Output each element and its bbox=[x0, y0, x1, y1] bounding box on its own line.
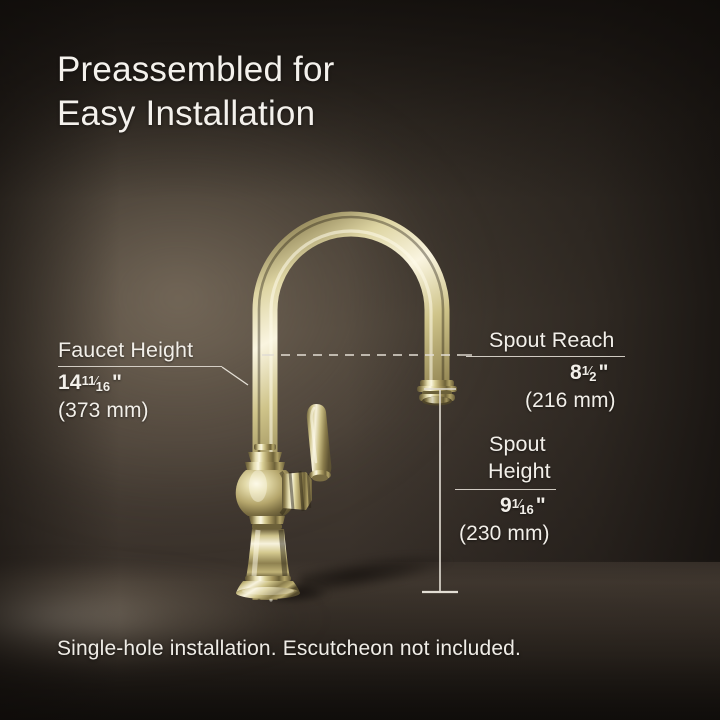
spout-height-metric: (230 mm) bbox=[459, 522, 550, 546]
spout-height-value: 91⁄16" bbox=[500, 494, 546, 518]
spout-reach-value: 81⁄2" bbox=[570, 361, 609, 385]
faucet-height-numerator: 11 bbox=[82, 373, 96, 388]
faucet-height-whole: 14 bbox=[58, 371, 82, 394]
faucet-height-metric: (373 mm) bbox=[58, 399, 149, 423]
spout-reach-unit: " bbox=[598, 361, 608, 384]
spout-height-rule bbox=[455, 489, 556, 490]
faucet-height-rule bbox=[58, 366, 222, 367]
faucet-height-value: 1411⁄16" bbox=[58, 371, 122, 395]
faucet-body bbox=[236, 444, 312, 599]
faucet-gooseneck bbox=[259, 217, 443, 600]
faucet-height-leader-line bbox=[222, 367, 248, 385]
spout-height-denominator: 16 bbox=[519, 502, 533, 517]
spout-reach-denominator: 2 bbox=[589, 369, 596, 384]
spout-height-title-line-1: Spout bbox=[489, 432, 546, 457]
faucet-height-unit: " bbox=[112, 371, 122, 394]
faucet-lever-handle bbox=[307, 404, 332, 482]
product-dimension-graphic: Preassembled for Easy Installation Fauce… bbox=[0, 0, 720, 720]
spout-reach-title: Spout Reach bbox=[489, 328, 614, 353]
spout-height-unit: " bbox=[536, 494, 546, 517]
footer-note: Single-hole installation. Escutcheon not… bbox=[57, 637, 521, 661]
headline-line-2: Easy Installation bbox=[57, 92, 335, 136]
headline: Preassembled for Easy Installation bbox=[57, 48, 335, 136]
spout-height-title-line-2: Height bbox=[488, 459, 551, 484]
faucet-valve-barrel bbox=[282, 471, 312, 511]
faucet-spout-tip bbox=[417, 380, 457, 406]
faucet-height-denominator: 16 bbox=[96, 379, 110, 394]
spout-reach-whole: 8 bbox=[570, 361, 582, 384]
spout-reach-metric: (216 mm) bbox=[525, 389, 616, 413]
headline-line-1: Preassembled for bbox=[57, 48, 335, 92]
spout-height-whole: 9 bbox=[500, 494, 512, 517]
spout-reach-numerator: 1 bbox=[582, 363, 589, 378]
faucet-height-title: Faucet Height bbox=[58, 338, 193, 363]
spout-height-numerator: 1 bbox=[512, 496, 519, 511]
spout-reach-rule bbox=[466, 356, 625, 357]
